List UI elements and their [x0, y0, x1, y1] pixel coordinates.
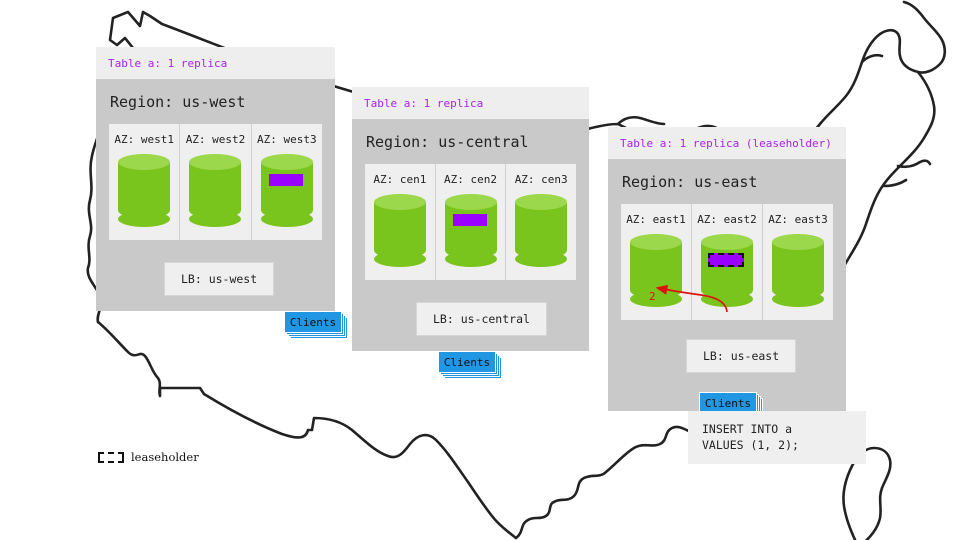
load-balancer-us-central[interactable]: LB: us-central: [416, 302, 547, 336]
az-label-west1: AZ: west1: [109, 133, 179, 146]
region-panel-us-central: Table a: 1 replica Region: us-central AZ…: [352, 87, 589, 351]
dashed-rect-icon: [98, 452, 124, 463]
db-node-west3[interactable]: [261, 154, 313, 226]
replica-chip-cen2: [453, 214, 487, 226]
az-label-west2: AZ: west2: [180, 133, 250, 146]
az-label-east3: AZ: east3: [763, 213, 833, 226]
arrow-step-label: 2: [649, 290, 656, 303]
region-header-us-central: Table a: 1 replica: [352, 87, 589, 119]
cylinder-bottom: [445, 251, 497, 267]
az-row-us-west: AZ: west1 AZ: west2: [109, 124, 322, 240]
load-balancer-us-west[interactable]: LB: us-west: [164, 262, 274, 296]
az-cell-east3[interactable]: AZ: east3: [762, 204, 833, 320]
cylinder-bottom: [701, 291, 753, 307]
az-cell-cen2[interactable]: AZ: cen2: [435, 164, 506, 280]
az-label-east2: AZ: east2: [692, 213, 762, 226]
cylinder-top: [445, 194, 497, 210]
az-label-cen2: AZ: cen2: [436, 173, 506, 186]
db-node-cen2[interactable]: [445, 194, 497, 266]
az-cell-cen1[interactable]: AZ: cen1: [365, 164, 435, 280]
cylinder-bottom: [515, 251, 567, 267]
cylinder-bottom: [374, 251, 426, 267]
diagram-canvas: Table a: 1 replica Region: us-west AZ: w…: [0, 0, 960, 540]
legend: leaseholder: [98, 450, 199, 464]
az-label-east1: AZ: east1: [621, 213, 691, 226]
region-title-us-east: Region: us-east: [608, 159, 846, 204]
az-cell-cen3[interactable]: AZ: cen3: [505, 164, 576, 280]
sql-callout: INSERT INTO a VALUES (1, 2);: [688, 411, 866, 464]
cylinder-bottom: [189, 211, 241, 227]
cylinder-top: [261, 154, 313, 170]
az-label-cen3: AZ: cen3: [506, 173, 576, 186]
region-header-us-east: Table a: 1 replica (leaseholder): [608, 127, 846, 159]
cylinder-bottom: [261, 211, 313, 227]
replica-chip-west3: [269, 174, 303, 186]
az-label-west3: AZ: west3: [252, 133, 322, 146]
db-node-west2[interactable]: [189, 154, 241, 226]
cylinder-top: [515, 194, 567, 210]
clients-label: Clients: [438, 351, 496, 373]
region-header-us-west: Table a: 1 replica: [96, 47, 335, 79]
db-node-east1[interactable]: [630, 234, 682, 306]
cylinder-top: [374, 194, 426, 210]
legend-label: leaseholder: [131, 450, 199, 464]
az-row-us-central: AZ: cen1 AZ: cen2: [365, 164, 576, 280]
clients-label: Clients: [284, 311, 342, 333]
db-node-west1[interactable]: [118, 154, 170, 226]
cylinder-top: [118, 154, 170, 170]
cylinder-bottom: [118, 211, 170, 227]
az-cell-east1[interactable]: AZ: east1: [621, 204, 691, 320]
clients-stack-us-west[interactable]: Clients: [284, 311, 342, 333]
az-cell-west3[interactable]: AZ: west3: [251, 124, 322, 240]
db-node-cen1[interactable]: [374, 194, 426, 266]
az-cell-west2[interactable]: AZ: west2: [179, 124, 250, 240]
cylinder-bottom: [630, 291, 682, 307]
cylinder-top: [772, 234, 824, 250]
db-node-east3[interactable]: [772, 234, 824, 306]
az-cell-east2[interactable]: AZ: east2: [691, 204, 762, 320]
load-balancer-us-east[interactable]: LB: us-east: [686, 339, 796, 373]
leaseholder-chip-east2: [708, 253, 744, 267]
cylinder-top: [630, 234, 682, 250]
clients-stack-us-central[interactable]: Clients: [438, 351, 496, 373]
region-title-us-central: Region: us-central: [352, 119, 589, 164]
cylinder-bottom: [772, 291, 824, 307]
az-label-cen1: AZ: cen1: [365, 173, 435, 186]
region-title-us-west: Region: us-west: [96, 79, 335, 124]
region-panel-us-west: Table a: 1 replica Region: us-west AZ: w…: [96, 47, 335, 311]
az-cell-west1[interactable]: AZ: west1: [109, 124, 179, 240]
db-node-east2[interactable]: [701, 234, 753, 306]
db-node-cen3[interactable]: [515, 194, 567, 266]
cylinder-top: [701, 234, 753, 250]
region-panel-us-east: Table a: 1 replica (leaseholder) Region:…: [608, 127, 846, 411]
